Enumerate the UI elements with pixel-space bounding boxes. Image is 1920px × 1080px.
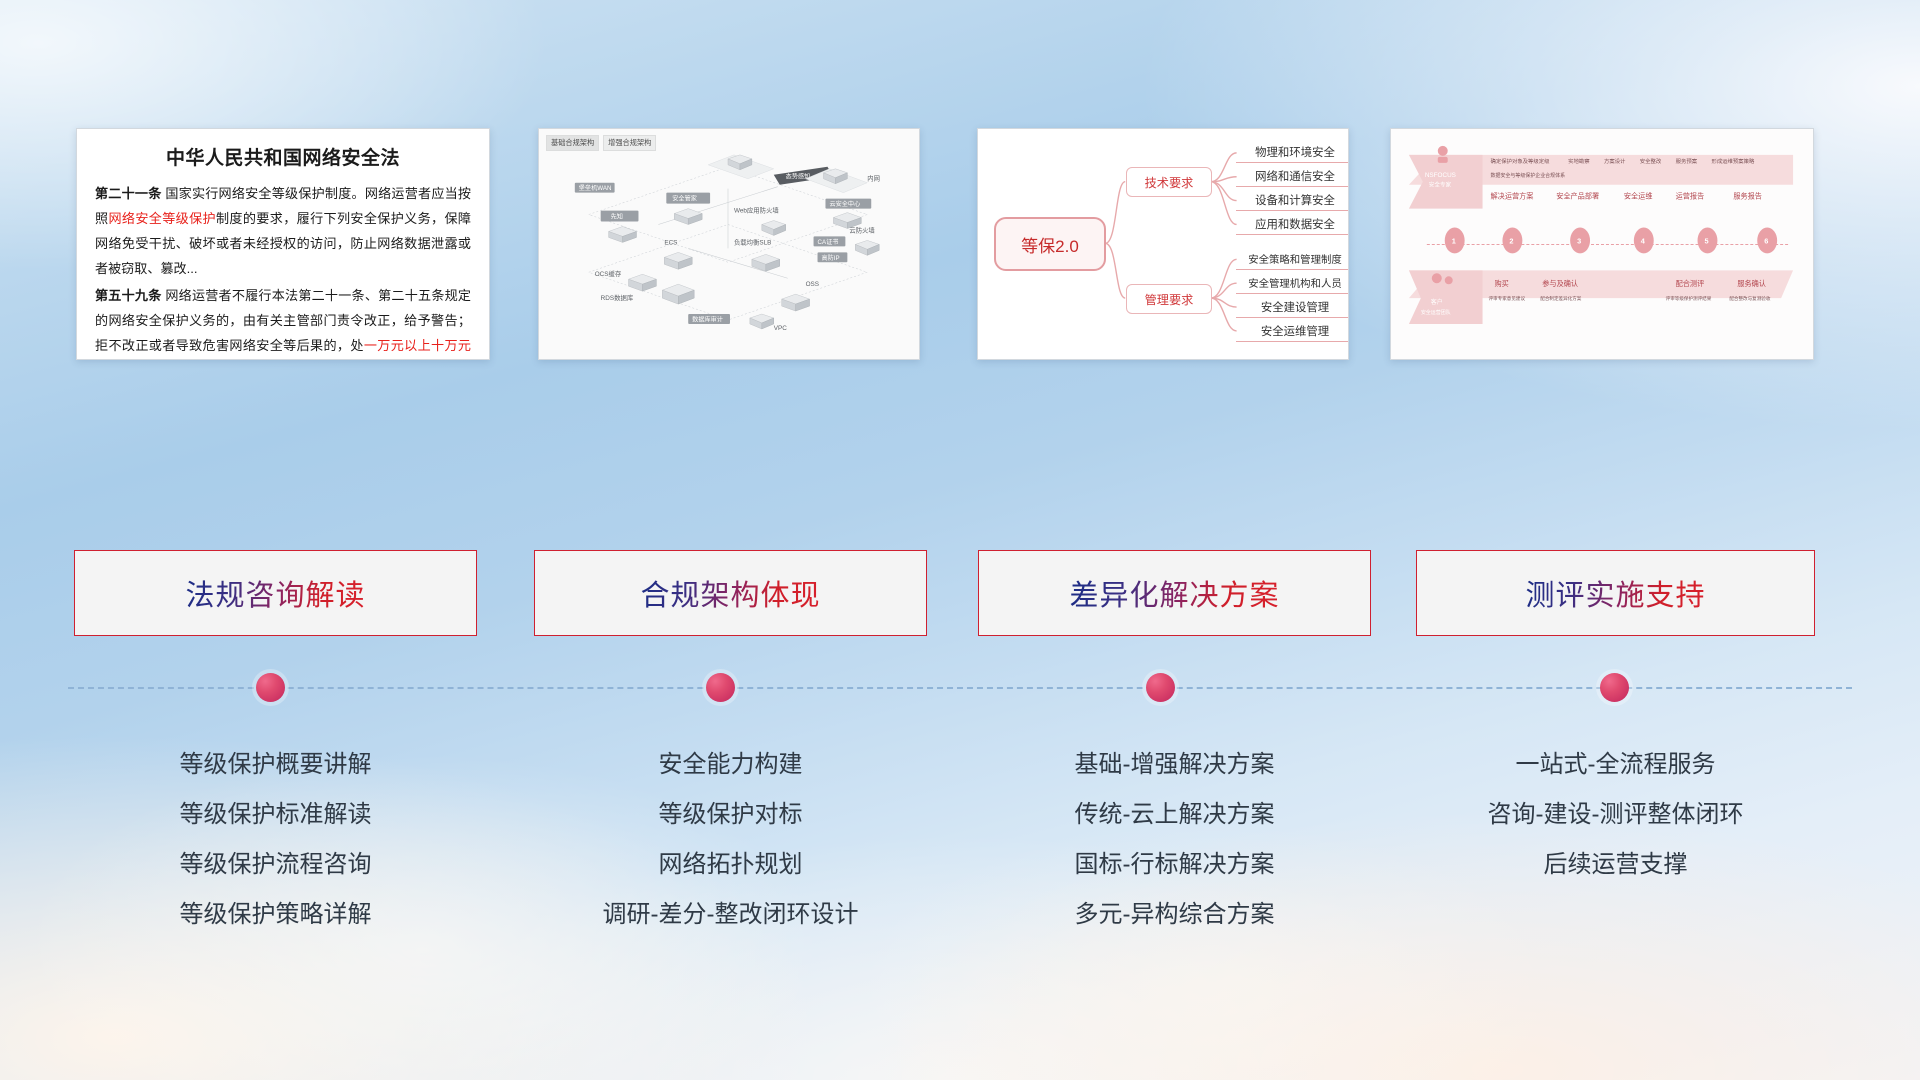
arch-node-vpc: VPC	[750, 314, 787, 332]
mindmap-leaf: 安全运维管理	[1236, 320, 1349, 342]
law-card[interactable]: 中华人民共和国网络安全法 第二十一条 国家实行网络安全等级保护制度。网络运营者应…	[76, 128, 490, 360]
law-article-label-21: 第二十一条	[95, 186, 162, 201]
slide-root: 中华人民共和国网络安全法 第二十一条 国家实行网络安全等级保护制度。网络运营者应…	[0, 0, 1920, 1080]
list-item: 调研-差分-整改闭环设计	[534, 890, 927, 940]
headline-text: 测评实施支持	[1525, 572, 1705, 614]
timeline-dot-1[interactable]	[256, 673, 285, 702]
arch-node-ca: CA证书	[814, 236, 846, 246]
svg-text:配合制定差异化方案: 配合制定差异化方案	[1540, 295, 1582, 302]
architecture-diagram: 基础合规架构 增强合规架构 态势感知	[539, 129, 919, 359]
svg-text:NSFOCUS: NSFOCUS	[1425, 172, 1456, 179]
svg-text:3: 3	[1577, 236, 1581, 245]
law-article-label-59: 第五十九条	[95, 288, 162, 303]
svg-text:内网: 内网	[867, 174, 880, 183]
svg-text:形成运维预案策略: 形成运维预案策略	[1711, 157, 1755, 165]
mindmap-leaf: 安全策略和管理制度	[1236, 248, 1349, 270]
mindmap-branch-technical[interactable]: 技术要求	[1126, 167, 1212, 197]
svg-text:安全管家: 安全管家	[672, 195, 697, 203]
arch-node-ecs: ECS	[664, 239, 692, 269]
mindmap-leaf: 应用和数据安全	[1236, 213, 1349, 235]
svg-text:评审专家意见建议: 评审专家意见建议	[1489, 295, 1526, 302]
list-item: 等级保护流程咨询	[74, 840, 477, 890]
mindmap-diagram: 等保2.0 技术要求 管理要求 物理和环境安全 网络和通信安全 设备和计算安全 …	[978, 129, 1348, 359]
law-paragraph-21: 第二十一条 国家实行网络安全等级保护制度。网络运营者应当按照网络安全等级保护制度…	[95, 181, 471, 281]
list-item: 安全能力构建	[534, 740, 927, 790]
svg-text:安全整改: 安全整改	[1640, 157, 1662, 165]
thumbnail-card-row: 中华人民共和国网络安全法 第二十一条 国家实行网络安全等级保护制度。网络运营者应…	[0, 128, 1920, 364]
svg-text:实地勘察: 实地勘察	[1568, 157, 1590, 165]
list-item: 等级保护对标	[534, 790, 927, 840]
bullet-column-evaluation: 一站式-全流程服务 咨询-建设-测评整体闭环 后续运营支撑	[1416, 740, 1815, 890]
headline-text: 法规咨询解读	[185, 572, 365, 614]
timeline-dot-2[interactable]	[706, 673, 735, 702]
svg-text:解决运营方案: 解决运营方案	[1491, 192, 1534, 201]
svg-text:安全运营团队: 安全运营团队	[1421, 309, 1451, 316]
svg-text:负载均衡SLB: 负载均衡SLB	[734, 237, 771, 246]
svg-text:Web应用防火墙: Web应用防火墙	[734, 206, 779, 215]
list-item: 多元-异构综合方案	[978, 890, 1371, 940]
headline-box-architecture[interactable]: 合规架构体现	[534, 550, 927, 636]
mindmap-root-node[interactable]: 等保2.0	[994, 217, 1106, 271]
svg-text:先知: 先知	[611, 213, 623, 221]
arch-node-anti-ddos: 高防IP	[818, 252, 848, 262]
svg-text:服务报告: 服务报告	[1733, 192, 1762, 201]
headline-box-regulation[interactable]: 法规咨询解读	[74, 550, 477, 636]
list-item: 基础-增强解决方案	[978, 740, 1371, 790]
arch-node-oss: OSS	[782, 281, 819, 311]
list-item: 国标-行标解决方案	[978, 840, 1371, 890]
mindmap-leaf: 物理和环境安全	[1236, 141, 1349, 163]
process-card[interactable]: NSFOCUS 安全专家 确定保护对象及等级定级 实地勘察 方案设计 安全整改 …	[1390, 128, 1814, 360]
svg-text:安全产品部署: 安全产品部署	[1556, 192, 1599, 201]
list-item: 等级保护标准解读	[74, 790, 477, 840]
law-run-red: 网络安全等级保护	[108, 211, 216, 226]
mindmap-card[interactable]: 等保2.0 技术要求 管理要求 物理和环境安全 网络和通信安全 设备和计算安全 …	[977, 128, 1349, 360]
mindmap-branch-management[interactable]: 管理要求	[1126, 284, 1212, 314]
svg-text:安全运维: 安全运维	[1624, 192, 1653, 201]
svg-text:OSS: OSS	[806, 281, 819, 288]
arch-node-slb: 负载均衡SLB	[734, 237, 780, 271]
timeline-dashed-line	[68, 687, 1852, 689]
svg-text:确定保护对象及等级定级: 确定保护对象及等级定级	[1491, 157, 1551, 165]
svg-text:客户: 客户	[1431, 298, 1443, 306]
law-body: 中华人民共和国网络安全法 第二十一条 国家实行网络安全等级保护制度。网络运营者应…	[77, 129, 489, 360]
mindmap-leaf: 网络和通信安全	[1236, 165, 1349, 187]
bullet-column-solution: 基础-增强解决方案 传统-云上解决方案 国标-行标解决方案 多元-异构综合方案	[978, 740, 1371, 940]
svg-text:1: 1	[1452, 236, 1456, 245]
arch-node-waf: Web应用防火墙	[734, 206, 786, 236]
arch-node-prophet: 先知	[601, 211, 639, 243]
bullet-column-architecture: 安全能力构建 等级保护对标 网络拓扑规划 调研-差分-整改闭环设计	[534, 740, 927, 940]
svg-text:OCS缓存: OCS缓存	[595, 269, 622, 278]
timeline-dot-3[interactable]	[1146, 673, 1175, 702]
svg-text:配合整改与复测验收: 配合整改与复测验收	[1729, 295, 1771, 302]
svg-text:6: 6	[1764, 236, 1768, 245]
list-item: 后续运营支撑	[1416, 840, 1815, 890]
svg-text:参与及确认: 参与及确认	[1542, 279, 1578, 288]
mindmap-leaf: 设备和计算安全	[1236, 189, 1349, 211]
timeline	[0, 658, 1920, 718]
svg-text:VPC: VPC	[774, 325, 787, 332]
svg-text:评审等级保护测评结果: 评审等级保护测评结果	[1666, 295, 1712, 302]
svg-text:云安全中心: 云安全中心	[829, 200, 860, 208]
svg-text:服务预案: 服务预案	[1676, 157, 1698, 165]
arch-node-bastion: 堡垒机WAN	[575, 183, 615, 193]
svg-text:配合测评: 配合测评	[1676, 279, 1705, 288]
svg-text:购买: 购买	[1495, 279, 1509, 288]
svg-text:2: 2	[1509, 236, 1513, 245]
law-title: 中华人民共和国网络安全法	[95, 143, 471, 170]
svg-text:数据安全与等级保护企业合规体系: 数据安全与等级保护企业合规体系	[1491, 172, 1566, 179]
headline-text: 差异化解决方案	[1069, 572, 1279, 614]
process-svg: NSFOCUS 安全专家 确定保护对象及等级定级 实地勘察 方案设计 安全整改 …	[1391, 129, 1813, 360]
list-item: 网络拓扑规划	[534, 840, 927, 890]
headline-text: 合规架构体现	[640, 572, 820, 614]
svg-text:CA证书: CA证书	[818, 238, 839, 246]
timeline-dot-4[interactable]	[1600, 673, 1629, 702]
svg-text:堡垒机WAN: 堡垒机WAN	[579, 184, 612, 192]
architecture-card[interactable]: 基础合规架构 增强合规架构 态势感知	[538, 128, 920, 360]
law-paragraph-59: 第五十九条 网络运营者不履行本法第二十一条、第二十五条规定的网络安全保护义务的，…	[95, 283, 471, 360]
headline-box-evaluation[interactable]: 测评实施支持	[1416, 550, 1815, 636]
svg-text:安全专家: 安全专家	[1429, 181, 1452, 189]
svg-text:方案设计: 方案设计	[1604, 157, 1626, 165]
mindmap-leaf: 安全建设管理	[1236, 296, 1349, 318]
svg-text:云防火墙: 云防火墙	[849, 225, 875, 234]
bullet-column-row: 等级保护概要讲解 等级保护标准解读 等级保护流程咨询 等级保护策略详解 安全能力…	[0, 740, 1920, 970]
arch-node-cloud-firewall: 云防火墙	[849, 225, 879, 255]
architecture-svg: 态势感知 安全管家 先知	[539, 129, 919, 360]
svg-text:ECS: ECS	[664, 239, 677, 246]
svg-text:运营报告: 运营报告	[1676, 192, 1705, 201]
svg-text:5: 5	[1704, 236, 1708, 245]
svg-text:数据库审计: 数据库审计	[692, 315, 723, 323]
process-diagram: NSFOCUS 安全专家 确定保护对象及等级定级 实地勘察 方案设计 安全整改 …	[1391, 129, 1813, 359]
list-item: 一站式-全流程服务	[1416, 740, 1815, 790]
list-item: 传统-云上解决方案	[978, 790, 1371, 840]
list-item: 等级保护概要讲解	[74, 740, 477, 790]
svg-text:RDS数据库: RDS数据库	[601, 293, 634, 302]
headline-box-solution[interactable]: 差异化解决方案	[978, 550, 1371, 636]
svg-text:高防IP: 高防IP	[822, 254, 840, 262]
headline-row: 法规咨询解读 合规架构体现 差异化解决方案 测评实施支持	[0, 550, 1920, 636]
svg-text:服务确认: 服务确认	[1737, 279, 1766, 288]
arch-node-db-audit: 数据库审计	[688, 314, 730, 324]
svg-text:态势感知: 态势感知	[786, 173, 811, 181]
list-item: 咨询-建设-测评整体闭环	[1416, 790, 1815, 840]
arch-node-server-top	[708, 155, 774, 179]
mindmap-leaf: 安全管理机构和人员	[1236, 272, 1349, 294]
arch-node-ocs: OCS缓存	[595, 269, 657, 291]
bullet-column-regulation: 等级保护概要讲解 等级保护标准解读 等级保护流程咨询 等级保护策略详解	[74, 740, 477, 940]
list-item: 等级保护策略详解	[74, 890, 477, 940]
